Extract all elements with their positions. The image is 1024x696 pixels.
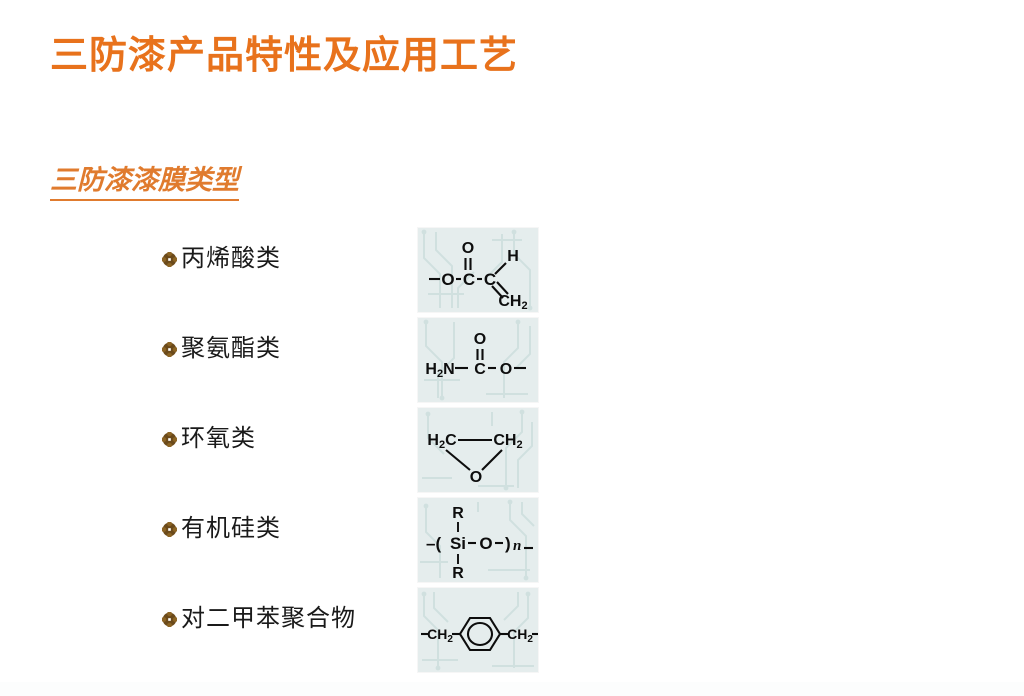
- film-type-name: 有机硅类: [181, 516, 281, 542]
- list-item[interactable]: 有机硅类 R: [0, 492, 1024, 582]
- epoxide-formula: H2C CH2 O: [418, 408, 538, 492]
- flower-bullet-icon: [162, 522, 177, 537]
- atom-h: H: [507, 248, 519, 265]
- atom-r-top: R: [452, 505, 464, 522]
- subscript-n: n: [513, 538, 521, 554]
- atom-c-carbonyl: C: [463, 270, 475, 289]
- atom-ch2: CH2: [493, 432, 522, 451]
- parylene-formula: CH2 CH2: [418, 588, 538, 672]
- film-type-name: 丙烯酸类: [181, 246, 281, 272]
- list-item[interactable]: 环氧类 H2C: [0, 402, 1024, 492]
- atom-ch2: CH2: [498, 293, 527, 312]
- film-type-label-epoxide: 环氧类: [162, 426, 256, 452]
- acrylate-structure-image: O O C C H CH2: [418, 228, 538, 312]
- film-type-label-acrylate: 丙烯酸类: [162, 246, 281, 272]
- slide-canvas: 三防漆产品特性及应用工艺 三防漆漆膜类型 丙烯酸类: [0, 0, 1024, 696]
- acrylate-formula: O O C C H CH2: [418, 228, 538, 312]
- list-item[interactable]: 丙烯酸类 O: [0, 222, 1024, 312]
- atom-h2n: H2N: [425, 361, 454, 380]
- atom-c: C: [474, 361, 486, 378]
- siloxane-structure-image: R –( Si O ) n R: [418, 498, 538, 582]
- atom-r-bottom: R: [452, 565, 464, 582]
- film-type-name: 环氧类: [181, 426, 256, 452]
- epoxide-structure-image: H2C CH2 O: [418, 408, 538, 492]
- list-item[interactable]: 聚氨酯类 O: [0, 312, 1024, 402]
- film-type-name: 对二甲苯聚合物: [181, 606, 356, 632]
- atom-o-double: O: [462, 240, 474, 257]
- film-type-list: 丙烯酸类 O: [0, 222, 1024, 672]
- urethane-structure-image: O H2N C O: [418, 318, 538, 402]
- footer-strip: [0, 682, 1024, 696]
- atom-h2c: H2C: [427, 432, 457, 451]
- siloxane-formula: R –( Si O ) n R: [418, 498, 538, 582]
- atom-ch2-left: CH2: [427, 626, 453, 645]
- flower-bullet-icon: [162, 342, 177, 357]
- flower-bullet-icon: [162, 252, 177, 267]
- film-type-label-urethane: 聚氨酯类: [162, 336, 281, 362]
- atom-c-vinyl: C: [484, 270, 496, 289]
- section-heading: 三防漆漆膜类型: [50, 163, 239, 201]
- parylene-structure-image: CH2 CH2: [418, 588, 538, 672]
- atom-ch2-right: CH2: [507, 626, 533, 645]
- atom-o-double: O: [474, 331, 486, 348]
- atom-o-right: O: [500, 361, 512, 378]
- list-item[interactable]: 对二甲苯聚合物 CH2: [0, 582, 1024, 672]
- page-title: 三防漆产品特性及应用工艺: [50, 33, 518, 79]
- film-type-label-parylene: 对二甲苯聚合物: [162, 606, 356, 632]
- atom-o: O: [479, 534, 492, 553]
- aromatic-circle: [468, 623, 492, 645]
- urethane-formula: O H2N C O: [418, 318, 538, 402]
- flower-bullet-icon: [162, 432, 177, 447]
- atom-o: O: [470, 469, 482, 486]
- chain-close: ): [505, 534, 511, 553]
- atom-si: Si: [450, 534, 466, 553]
- chain-left-dash: –(: [426, 534, 441, 553]
- flower-bullet-icon: [162, 612, 177, 627]
- film-type-label-siloxane: 有机硅类: [162, 516, 281, 542]
- atom-o-left: O: [441, 270, 454, 289]
- film-type-name: 聚氨酯类: [181, 336, 281, 362]
